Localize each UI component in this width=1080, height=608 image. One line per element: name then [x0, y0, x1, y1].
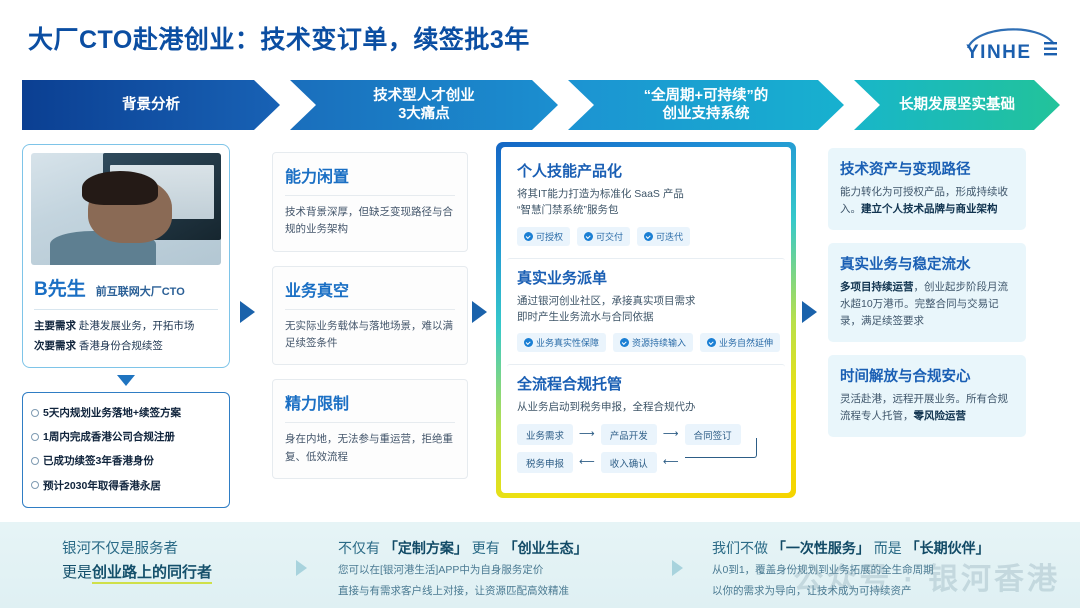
client-photo: [31, 153, 221, 265]
footer-b1-line1: 银河不仅是服务者: [62, 538, 312, 561]
outcome-card-real-business: 真实业务与稳定流水 多项目持续运营，创业起步阶段月流水超10万港币。完整合同与交…: [828, 243, 1026, 342]
outcome-card-title: 真实业务与稳定流水: [840, 253, 1014, 274]
support-card-title: 真实业务派单: [517, 267, 775, 288]
support-card-title: 个人技能产品化: [517, 160, 775, 181]
yinhe-logo: YINHE: [960, 18, 1060, 62]
pain-point-title: 精力限制: [285, 390, 455, 414]
footer-b2-head: 不仅有 「定制方案」 更有 「创业生态」: [338, 538, 668, 558]
pain-point-card: 精力限制 身在内地，无法参与重运营，拒绝重复、低效流程: [272, 379, 468, 479]
primary-need-label: 主要需求: [34, 320, 76, 332]
support-card-title: 全流程合规托管: [517, 373, 775, 394]
tag-label: 业务真实性保障: [536, 336, 599, 349]
chevron-step-1-line-1: 背景分析: [122, 96, 180, 114]
support-card-tags: 业务真实性保障 资源持续输入 业务自然延伸: [517, 333, 775, 352]
check-icon: [524, 338, 533, 347]
chevron-step-4-line-1: 长期发展坚实基础: [899, 96, 1015, 114]
support-card-tags: 可授权 可交付 可迭代: [517, 227, 775, 246]
chevron-step-3-line-1: “全周期+可持续”的: [644, 87, 768, 105]
results-card: 5天内规划业务落地+续签方案 1周内完成香港公司合规注册 已成功续签3年香港身份…: [22, 392, 230, 509]
arrow-left-icon: ⟵: [663, 457, 679, 468]
tag-chip: 资源持续输入: [613, 333, 693, 352]
page-title: 大厂CTO赴港创业：技术变订单，续签批3年: [28, 20, 530, 56]
outcome-text-bold: 多项目持续运营: [840, 281, 914, 293]
chevron-step-4[interactable]: 长期发展坚实基础: [854, 80, 1060, 130]
tag-chip: 可交付: [577, 227, 630, 246]
column-pain-points: 能力闲置 技术背景深厚，但缺乏变现路径与合规的业务架构 业务真空 无实际业务载体…: [272, 152, 468, 493]
profile-name: B先生: [34, 274, 86, 301]
check-icon: [644, 232, 653, 241]
result-item: 已成功续签3年香港身份: [31, 450, 221, 474]
outcome-card-title: 时间解放与合规安心: [840, 365, 1014, 386]
outcome-text-bold: 零风险运营: [914, 410, 967, 422]
profile-name-row: B先生 前互联网大厂CTO: [31, 274, 221, 301]
footer-b1-line2-bold: 创业路上的同行者: [92, 564, 212, 584]
footer-b2-sub2: 直接与有需求客户线上对接，让资源匹配高效精准: [338, 583, 668, 600]
tag-chip: 可授权: [517, 227, 570, 246]
pain-point-title: 能力闲置: [285, 163, 455, 187]
connector-arrow-1: [240, 301, 255, 323]
outcome-card-time-freedom: 时间解放与合规安心 灵活赴港，远程开展业务。所有合规流程专人托管，零风险运营: [828, 355, 1026, 437]
header: 大厂CTO赴港创业：技术变订单，续签批3年 YINHE: [0, 0, 1080, 74]
tag-label: 业务自然延伸: [719, 336, 773, 349]
chevron-step-2[interactable]: 技术型人才创业 3大痛点: [290, 80, 558, 130]
watermark: 公众号 · 银河香港: [793, 554, 1060, 598]
footer-arrow-icon-1: [296, 560, 307, 576]
pain-point-card: 业务真空 无实际业务载体与落地场景，难以满足续签条件: [272, 266, 468, 366]
pain-point-title: 业务真空: [285, 277, 455, 301]
footer-block-1: 银河不仅是服务者 更是创业路上的同行者: [62, 538, 312, 585]
footer-b2-head-a: 不仅有: [338, 540, 380, 556]
slide-root: 大厂CTO赴港创业：技术变订单，续签批3年 YINHE 背景分析 技术型人才创业…: [0, 0, 1080, 608]
support-card-dispatch: 真实业务派单 通过银河创业社区，承接真实项目需求 即时产生业务流水与合同依据 业…: [507, 258, 785, 362]
pain-point-text: 技术背景深厚，但缺乏变现路径与合规的业务架构: [285, 204, 455, 239]
outcome-card-text: 灵活赴港，远程开展业务。所有合规流程专人托管，零风险运营: [840, 391, 1014, 425]
column-outcomes: 技术资产与变现路径 能力转化为可授权产品，形成持续收入。建立个人技术品牌与商业架…: [828, 148, 1026, 450]
footer-b1-line2: 更是创业路上的同行者: [62, 561, 312, 585]
chevron-step-2-line-1: 技术型人才创业: [373, 87, 475, 105]
footer: 银河不仅是服务者 更是创业路上的同行者 不仅有 「定制方案」 更有 「创业生态」…: [0, 522, 1080, 608]
arrow-right-icon: ⟶: [579, 429, 595, 440]
support-card-compliance: 全流程合规托管 从业务启动到税务申报，全程合规代办 业务需求 ⟶ 产品开发 ⟶ …: [507, 364, 785, 489]
main-content: B先生 前互联网大厂CTO 主要需求 赴港发展业务，开拓市场 次要需求 香港身份…: [0, 138, 1080, 518]
down-arrow-icon: [22, 375, 230, 386]
chevron-step-3-line-2: 创业支持系统: [644, 105, 768, 123]
divider: [34, 309, 218, 310]
pain-point-text: 无实际业务载体与落地场景，难以满足续签条件: [285, 318, 455, 353]
support-card-text: 将其IT能力打造为标准化 SaaS 产品 “智慧门禁系统”服务包: [517, 186, 775, 219]
result-item: 1周内完成香港公司合规注册: [31, 426, 221, 450]
compliance-flow-diagram: 业务需求 ⟶ 产品开发 ⟶ 合同签订 税务申报 ⟵ 收入确认 ⟵: [517, 424, 775, 473]
footer-b3-head-a: 我们不做: [712, 540, 768, 556]
primary-need-row: 主要需求 赴港发展业务，开拓市场: [31, 317, 221, 337]
result-item: 5天内规划业务落地+续签方案: [31, 402, 221, 426]
tag-chip: 可迭代: [637, 227, 690, 246]
footer-arrow-icon-2: [672, 560, 683, 576]
profile-card: B先生 前互联网大厂CTO 主要需求 赴港发展业务，开拓市场 次要需求 香港身份…: [22, 144, 230, 368]
flow-node: 税务申报: [517, 452, 573, 473]
tag-label: 可迭代: [656, 230, 683, 243]
flow-node: 业务需求: [517, 424, 573, 445]
result-item: 预计2030年取得香港永居: [31, 474, 221, 498]
divider: [285, 309, 455, 310]
divider: [285, 422, 455, 423]
outcome-card-tech-assets: 技术资产与变现路径 能力转化为可授权产品，形成持续收入。建立个人技术品牌与商业架…: [828, 148, 1026, 230]
outcome-card-title: 技术资产与变现路径: [840, 158, 1014, 179]
footer-b2-head-b: 「定制方案」: [384, 540, 468, 556]
tag-label: 可交付: [596, 230, 623, 243]
footer-block-2: 不仅有 「定制方案」 更有 「创业生态」 您可以在[银河港生活]APP中为自身服…: [338, 538, 668, 600]
secondary-need-value: 香港身份合规续签: [79, 340, 163, 352]
connector-arrow-3: [802, 301, 817, 323]
footer-b2-sub1: 您可以在[银河港生活]APP中为自身服务定价: [338, 562, 668, 579]
chevron-step-3[interactable]: “全周期+可持续”的 创业支持系统: [568, 80, 844, 130]
support-card-productization: 个人技能产品化 将其IT能力打造为标准化 SaaS 产品 “智慧门禁系统”服务包…: [507, 152, 785, 255]
outcome-text-bold: 建立个人技术品牌与商业架构: [861, 203, 998, 215]
check-icon: [524, 232, 533, 241]
footer-b1-line2-prefix: 更是: [62, 564, 92, 581]
footer-b2-head-d: 「创业生态」: [504, 540, 588, 556]
tag-chip: 业务自然延伸: [700, 333, 780, 352]
check-icon: [584, 232, 593, 241]
flow-elbow-connector: [685, 438, 757, 458]
flow-node: 产品开发: [601, 424, 657, 445]
pain-point-text: 身在内地，无法参与重运营，拒绝重复、低效流程: [285, 431, 455, 466]
support-card-text: 通过银河创业社区，承接真实项目需求 即时产生业务流水与合同依据: [517, 293, 775, 326]
chevron-step-2-line-2: 3大痛点: [373, 105, 475, 123]
profile-role: 前互联网大厂CTO: [96, 283, 185, 299]
outcome-card-text: 多项目持续运营，创业起步阶段月流水超10万港币。完整合同与交易记录，满足续签要求: [840, 279, 1014, 330]
tag-label: 资源持续输入: [632, 336, 686, 349]
stage-chevron-banner: 背景分析 技术型人才创业 3大痛点 “全周期+可持续”的 创业支持系统 长期发展…: [22, 80, 1060, 130]
column-support-system: 个人技能产品化 将其IT能力打造为标准化 SaaS 产品 “智慧门禁系统”服务包…: [496, 142, 796, 498]
column-profile: B先生 前互联网大厂CTO 主要需求 赴港发展业务，开拓市场 次要需求 香港身份…: [22, 144, 230, 508]
tag-label: 可授权: [536, 230, 563, 243]
divider: [285, 195, 455, 196]
outcome-card-text: 能力转化为可授权产品，形成持续收入。建立个人技术品牌与商业架构: [840, 184, 1014, 218]
arrow-left-icon: ⟵: [579, 457, 595, 468]
pain-point-card: 能力闲置 技术背景深厚，但缺乏变现路径与合规的业务架构: [272, 152, 468, 252]
flow-node: 收入确认: [601, 452, 657, 473]
logo-text: YINHE: [966, 42, 1032, 62]
chevron-step-1[interactable]: 背景分析: [22, 80, 280, 130]
check-icon: [707, 338, 716, 347]
primary-need-value: 赴港发展业务，开拓市场: [79, 320, 195, 332]
connector-arrow-2: [472, 301, 487, 323]
footer-b2-head-c: 更有: [472, 540, 500, 556]
secondary-need-label: 次要需求: [34, 340, 76, 352]
check-icon: [620, 338, 629, 347]
tag-chip: 业务真实性保障: [517, 333, 606, 352]
secondary-need-row: 次要需求 香港身份合规续签: [31, 337, 221, 357]
arrow-right-icon: ⟶: [663, 429, 679, 440]
support-card-text: 从业务启动到税务申报，全程合规代办: [517, 399, 775, 415]
